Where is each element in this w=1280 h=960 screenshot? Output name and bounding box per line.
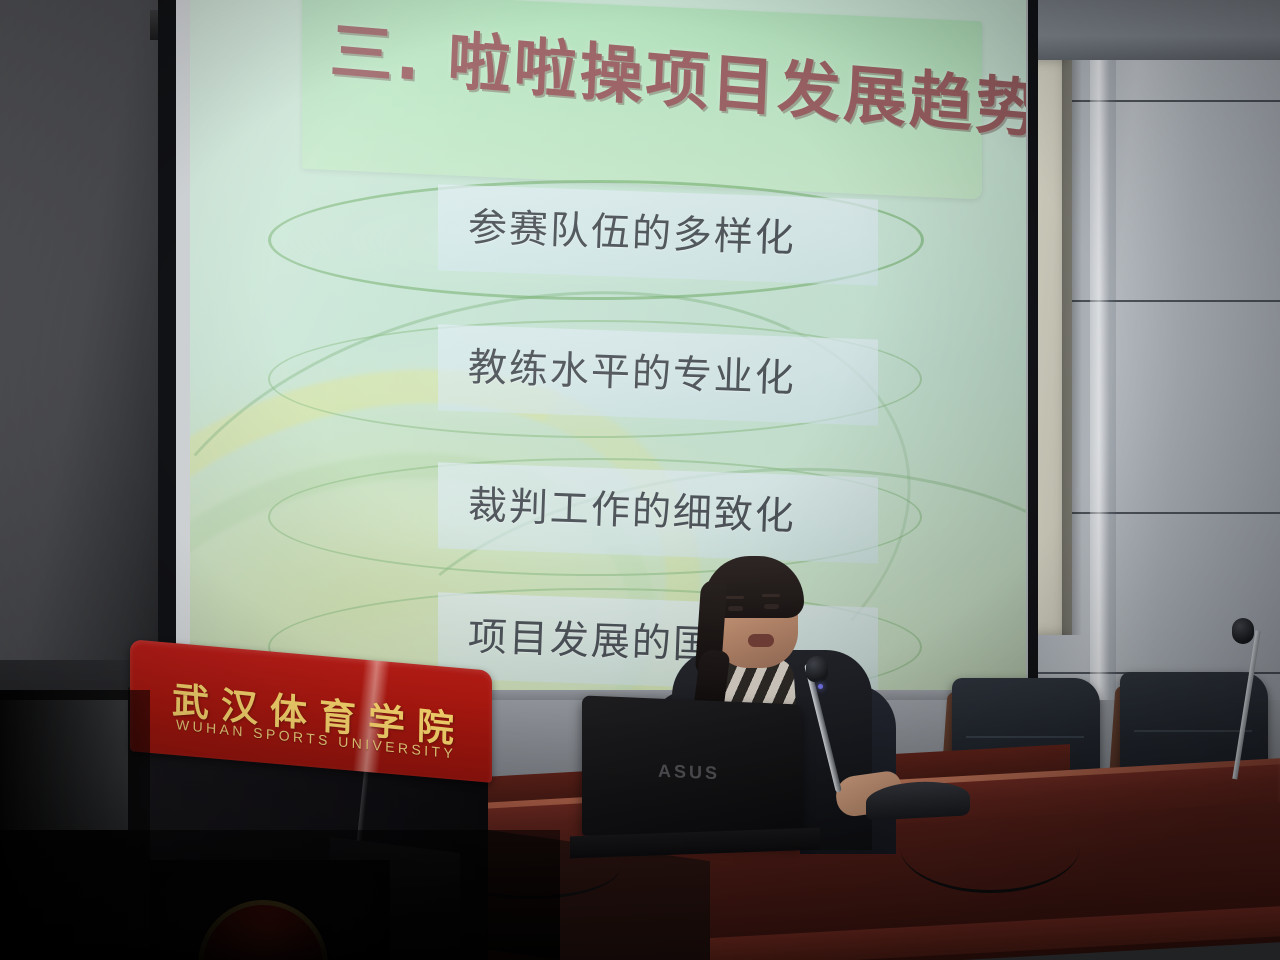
slide-bullet-text-2: 教练水平的专业化 <box>467 336 797 403</box>
slide-bullet-text-3: 裁判工作的细致化 <box>467 474 797 541</box>
slide-bullet-row: 裁判工作的细致化 <box>268 450 928 580</box>
slide-bullet-row: 教练水平的专业化 <box>268 312 928 442</box>
microphone-led-indicator <box>818 684 823 689</box>
wall-pillar <box>1090 0 1116 700</box>
microphone-head <box>806 656 828 682</box>
microphone-cable <box>900 800 1080 893</box>
presentation-slide: 三. 啦啦操项目发展趋势 参赛队伍的多样化 教练水平的专业化 裁判工作的细致化 … <box>190 0 1026 690</box>
slide-bullet-text-1: 参赛队伍的多样化 <box>467 196 797 263</box>
chair-seam <box>966 736 1084 738</box>
slide-bullet-row: 参赛队伍的多样化 <box>268 172 928 302</box>
microphone-head-secondary <box>1232 618 1254 644</box>
wall-alcove-shadow <box>1062 60 1082 635</box>
slide-bullet-text-4: 项目发展的国 <box>467 606 715 671</box>
presenter-mouth <box>748 634 774 647</box>
laptop-brand-logo: ASUS <box>658 761 720 785</box>
presentation-photo-scene: 三. 啦啦操项目发展趋势 参赛队伍的多样化 教练水平的专业化 裁判工作的细致化 … <box>0 0 1280 960</box>
chair-seam <box>1134 730 1252 732</box>
presenter-eye-right <box>764 604 779 609</box>
foreground-shadow-left <box>0 690 150 960</box>
presenter-eyebrow-left <box>726 596 744 599</box>
presenter-eyebrow-right <box>762 594 780 597</box>
presenter-eye-left <box>728 606 743 611</box>
